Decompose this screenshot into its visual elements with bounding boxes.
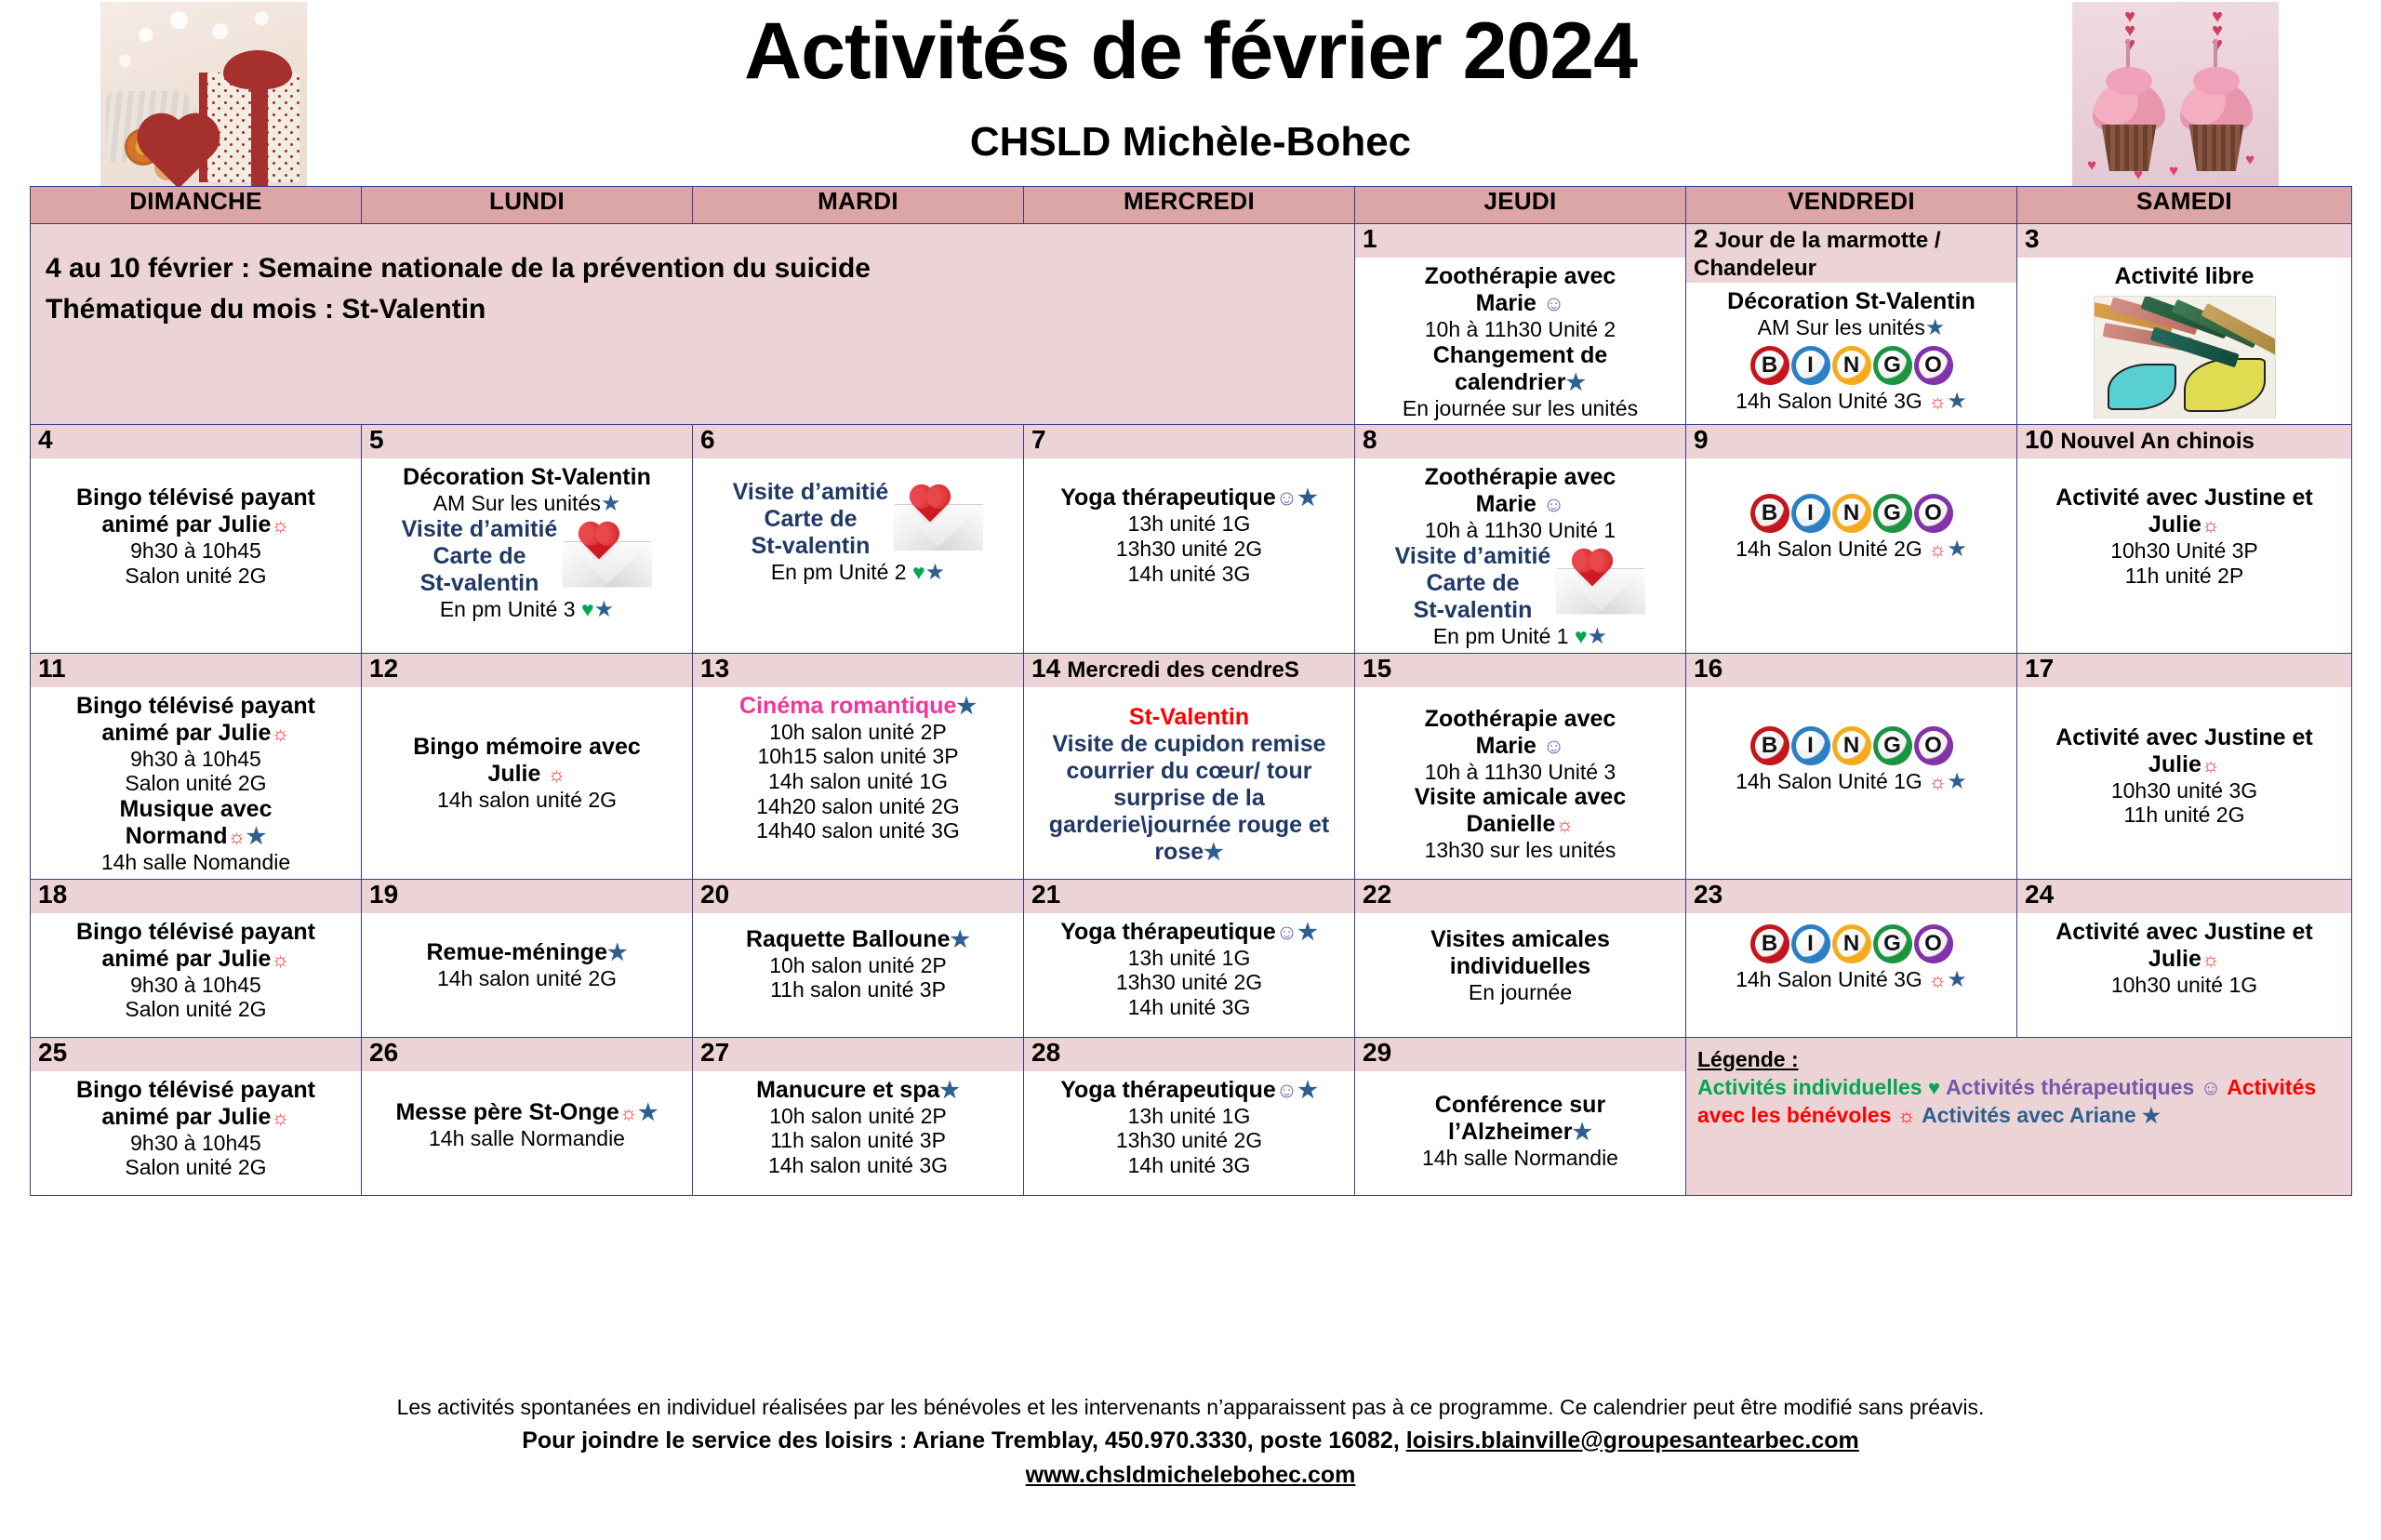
bingo-logo: B I N G O: [1694, 726, 2009, 765]
day-events-8: Zoothérapie avec Marie ☺ 10h à 11h30 Uni…: [1355, 458, 1685, 652]
day-number-9: 9: [1686, 425, 2016, 458]
monthly-calendar: DIMANCHE LUNDI MARDI MERCREDI JEUDI VEND…: [30, 186, 2352, 1196]
day-cell-17[interactable]: 17 Activité avec Justine et Julie☼ 10h30…: [2017, 653, 2352, 879]
day-number-22: 22: [1355, 880, 1685, 913]
weekday-header-monday: LUNDI: [362, 187, 693, 224]
legend-items: Activités individuelles ♥ Activités thér…: [1697, 1074, 2340, 1130]
bingo-ball-o: O: [1914, 726, 1953, 765]
sun-icon: ☼: [271, 948, 289, 971]
weekday-header-tuesday: MARDI: [693, 187, 1024, 224]
day-cell-25[interactable]: 25 Bingo télévisé payant animé par Julie…: [31, 1037, 362, 1195]
weekday-header-wednesday: MERCREDI: [1024, 187, 1355, 224]
smiley-icon: ☺: [1543, 734, 1564, 758]
footer-note: Les activités spontanées en individuel r…: [0, 1391, 2381, 1424]
heart-icon: ♥: [912, 560, 925, 584]
day-events-29: Conférence sur l’Alzheimer★ 14h salle No…: [1355, 1071, 1685, 1175]
day-events-11: Bingo télévisé payant animé par Julie☼ 9…: [31, 687, 361, 879]
day-cell-15[interactable]: 15 Zoothérapie avec Marie ☺ 10h à 11h30 …: [1355, 653, 1686, 879]
smiley-icon: ☺: [2201, 1076, 2228, 1099]
day-events-21: Yoga thérapeutique☺★ 13h unité 1G 13h30 …: [1024, 913, 1354, 1024]
weekday-header-friday: VENDREDI: [1686, 187, 2017, 224]
day-number-17: 17: [2017, 654, 2351, 687]
day-number-25: 25: [31, 1038, 361, 1071]
heart-icon: ♥: [1575, 624, 1588, 648]
calendar-week-1: 4 au 10 février : Semaine nationale de l…: [31, 224, 2352, 425]
bingo-ball-g: G: [1873, 726, 1912, 765]
day-cell-3[interactable]: 3 Activité libre: [2017, 224, 2352, 425]
sun-icon: ☼: [1928, 390, 1947, 413]
legend: Légende : Activités individuelles ♥ Acti…: [1686, 1037, 2352, 1195]
heart-icon: ♥: [581, 597, 594, 621]
calendar-week-5: 25 Bingo télévisé payant animé par Julie…: [31, 1037, 2352, 1195]
sun-icon: ☼: [271, 513, 289, 537]
love-letter-icon: [563, 526, 652, 588]
day-number-27: 27: [693, 1038, 1023, 1071]
heart-icon: ♥: [1928, 1076, 1946, 1099]
day-events-28: Yoga thérapeutique☺★ 13h unité 1G 13h30 …: [1024, 1071, 1354, 1182]
day-events-4: Bingo télévisé payant animé par Julie☼ 9…: [31, 458, 361, 591]
bingo-ball-o: O: [1914, 924, 1953, 963]
footer-contact: Pour joindre le service des loisirs : Ar…: [0, 1424, 2381, 1459]
day-cell-8[interactable]: 8 Zoothérapie avec Marie ☺ 10h à 11h30 U…: [1355, 425, 1686, 653]
day-number-13: 13: [693, 654, 1023, 687]
bingo-ball-n: N: [1832, 924, 1871, 963]
star-icon: ★: [1947, 537, 1967, 562]
day-cell-18[interactable]: 18 Bingo télévisé payant animé par Julie…: [31, 879, 362, 1037]
day-events-19: Remue-méninge★ 14h salon unité 2G: [362, 913, 692, 995]
footer-website-link[interactable]: www.chsldmichelebohec.com: [0, 1458, 2381, 1494]
day-events-24: Activité avec Justine et Julie☼ 10h30 un…: [2017, 913, 2351, 1002]
bingo-ball-b: B: [1750, 494, 1789, 533]
day-number-21: 21: [1024, 880, 1354, 913]
day-cell-27[interactable]: 27 Manucure et spa★ 10h salon unité 2P 1…: [693, 1037, 1024, 1195]
day-number-10: 10 Nouvel An chinois: [2017, 425, 2351, 458]
day-number-8: 8: [1355, 425, 1685, 458]
sun-icon: ☼: [1555, 813, 1574, 836]
day-number-26: 26: [362, 1038, 692, 1071]
day-number-16: 16: [1686, 654, 2016, 687]
day-number-20: 20: [693, 880, 1023, 913]
day-cell-19[interactable]: 19 Remue-méninge★ 14h salon unité 2G: [362, 879, 693, 1037]
day-number-18: 18: [31, 880, 361, 913]
bingo-logo: B I N G O: [1694, 494, 2009, 533]
sun-icon: ☼: [1928, 770, 1947, 793]
bingo-logo: B I N G O: [1694, 346, 2009, 385]
day-events-13: Cinéma romantique★ 10h salon unité 2P 10…: [693, 687, 1023, 847]
calendar-week-4: 18 Bingo télévisé payant animé par Julie…: [31, 879, 2352, 1037]
day-cell-29[interactable]: 29 Conférence sur l’Alzheimer★ 14h salle…: [1355, 1037, 1686, 1195]
star-icon: ★: [956, 694, 977, 719]
day-cell-16[interactable]: 16 B I N G O 14h Salon Unité 1G ☼★: [1686, 653, 2017, 879]
day-number-14: 14 Mercredi des cendreS: [1024, 654, 1354, 687]
day-events-1: Zoothérapie avec Marie ☺ 10h à 11h30 Uni…: [1355, 258, 1685, 424]
day-events-3: Activité libre: [2017, 258, 2351, 422]
bingo-ball-n: N: [1832, 726, 1871, 765]
day-events-22: Visites amicales individuelles En journé…: [1355, 913, 1685, 1009]
star-icon: ★: [1204, 840, 1224, 865]
day-cell-24[interactable]: 24 Activité avec Justine et Julie☼ 10h30…: [2017, 879, 2352, 1037]
day-cell-20[interactable]: 20 Raquette Balloune★ 10h salon unité 2P…: [693, 879, 1024, 1037]
bingo-ball-g: G: [1873, 346, 1912, 385]
smiley-icon: ☺: [1543, 291, 1564, 315]
sun-icon: ☼: [1897, 1104, 1922, 1127]
footer-email-link[interactable]: loisirs.blainville@groupesantearbec.com: [1406, 1427, 1859, 1454]
day-cell-14[interactable]: 14 Mercredi des cendreS St-Valentin Visi…: [1024, 653, 1355, 879]
day-events-27: Manucure et spa★ 10h salon unité 2P 11h …: [693, 1071, 1023, 1182]
smiley-icon: ☺: [1276, 1078, 1297, 1102]
day-cell-13[interactable]: 13 Cinéma romantique★ 10h salon unité 2P…: [693, 653, 1024, 879]
day-events-23: B I N G O 14h Salon Unité 3G ☼★: [1686, 913, 2016, 996]
star-icon: ★: [1297, 485, 1318, 511]
star-icon: ★: [2142, 1104, 2161, 1127]
star-icon: ★: [1925, 315, 1946, 340]
month-banner: 4 au 10 février : Semaine nationale de l…: [31, 224, 1355, 425]
day-number-15: 15: [1355, 654, 1685, 687]
bingo-logo: B I N G O: [1694, 924, 2009, 963]
day-cell-7[interactable]: 7 Yoga thérapeutique☺★ 13h unité 1G 13h3…: [1024, 425, 1355, 653]
day-cell-21[interactable]: 21 Yoga thérapeutique☺★ 13h unité 1G 13h…: [1024, 879, 1355, 1037]
day-number-6: 6: [693, 425, 1023, 458]
star-icon: ★: [607, 940, 628, 965]
star-icon: ★: [925, 560, 946, 585]
bingo-ball-g: G: [1873, 924, 1912, 963]
love-letter-icon: [894, 489, 983, 551]
sun-icon: ☼: [271, 1106, 289, 1129]
calendar-week-2: 4 Bingo télévisé payant animé par Julie☼…: [31, 425, 2352, 653]
day-number-28: 28: [1024, 1038, 1354, 1071]
day-events-12: Bingo mémoire avec Julie ☼ 14h salon uni…: [362, 687, 692, 816]
valentine-cupcakes-photo: ♥♥♥ ♥♥♥ ♥ ♥ ♥ ♥: [2072, 2, 2279, 186]
sun-icon: ☼: [547, 763, 565, 786]
bingo-ball-b: B: [1750, 726, 1789, 765]
day-cell-9[interactable]: 9 B I N G O 14h Salon Unité 2G ☼★: [1686, 425, 2017, 653]
weekday-header-row: DIMANCHE LUNDI MARDI MERCREDI JEUDI VEND…: [31, 187, 2352, 224]
star-icon: ★: [1572, 1120, 1592, 1145]
day-cell-26[interactable]: 26 Messe père St-Onge☼★ 14h salle Norman…: [362, 1037, 693, 1195]
day-events-16: B I N G O 14h Salon Unité 1G ☼★: [1686, 687, 2016, 798]
day-number-1: 1: [1355, 224, 1685, 258]
bingo-ball-g: G: [1873, 494, 1912, 533]
bingo-ball-b: B: [1750, 346, 1789, 385]
day-cell-11[interactable]: 11 Bingo télévisé payant animé par Julie…: [31, 653, 362, 879]
day-events-26: Messe père St-Onge☼★ 14h salle Normandie: [362, 1071, 692, 1155]
sun-icon: ☼: [1928, 538, 1947, 561]
legend-item-therapeutic: Activités thérapeutiques: [1946, 1075, 2194, 1099]
star-icon: ★: [246, 824, 267, 849]
day-events-9: B I N G O 14h Salon Unité 2G ☼★: [1686, 458, 2016, 565]
star-icon: ★: [1297, 1078, 1318, 1103]
day-number-5: 5: [362, 425, 692, 458]
smiley-icon: ☺: [1543, 492, 1564, 516]
day-number-29: 29: [1355, 1038, 1685, 1071]
bingo-ball-n: N: [1832, 346, 1871, 385]
day-cell-22[interactable]: 22 Visites amicales individuelles En jou…: [1355, 879, 1686, 1037]
smiley-icon: ☺: [1276, 920, 1297, 944]
page-subtitle: CHSLD Michèle-Bohec: [0, 119, 2381, 166]
legend-title: Légende :: [1697, 1047, 2340, 1072]
day-number-23: 23: [1686, 880, 2016, 913]
legend-item-ariane: Activités avec Ariane: [1922, 1103, 2136, 1127]
bingo-ball-i: I: [1791, 924, 1830, 963]
day-cell-28[interactable]: 28 Yoga thérapeutique☺★ 13h unité 1G 13h…: [1024, 1037, 1355, 1195]
day-number-2: 2 Jour de la marmotte / Chandeleur: [1686, 224, 2016, 283]
day-number-19: 19: [362, 880, 692, 913]
day-number-3: 3: [2017, 224, 2351, 258]
star-icon: ★: [1947, 769, 1967, 794]
bingo-ball-i: I: [1791, 494, 1830, 533]
bingo-ball-o: O: [1914, 346, 1953, 385]
star-icon: ★: [1947, 389, 1967, 414]
day-cell-12[interactable]: 12 Bingo mémoire avec Julie ☼ 14h salon …: [362, 653, 693, 879]
day-number-12: 12: [362, 654, 692, 687]
weekday-header-saturday: SAMEDI: [2017, 187, 2352, 224]
day-events-5: Décoration St-Valentin AM Sur les unités…: [362, 458, 692, 625]
day-cell-5[interactable]: 5 Décoration St-Valentin AM Sur les unit…: [362, 425, 693, 653]
love-letter-icon: [1556, 553, 1645, 615]
bingo-ball-o: O: [1914, 494, 1953, 533]
weekday-header-thursday: JEUDI: [1355, 187, 1686, 224]
bingo-ball-n: N: [1832, 494, 1871, 533]
banner-line-2: Thématique du mois : St-Valentin: [46, 289, 1339, 330]
day-events-7: Yoga thérapeutique☺★ 13h unité 1G 13h30 …: [1024, 458, 1354, 590]
day-events-15: Zoothérapie avec Marie ☺ 10h à 11h30 Uni…: [1355, 687, 1685, 867]
sun-icon: ☼: [2201, 753, 2220, 777]
legend-item-individual: Activités individuelles: [1697, 1075, 1922, 1099]
day-number-4: 4: [31, 425, 361, 458]
star-icon: ★: [950, 927, 970, 952]
sun-icon: ☼: [619, 1101, 638, 1124]
day-number-11: 11: [31, 654, 361, 687]
day-events-18: Bingo télévisé payant animé par Julie☼ 9…: [31, 913, 361, 1026]
star-icon: ★: [1297, 920, 1318, 945]
footer-contact-text: Pour joindre le service des loisirs : Ar…: [522, 1427, 1406, 1454]
sun-icon: ☼: [1928, 968, 1947, 991]
weekday-header-sunday: DIMANCHE: [31, 187, 362, 224]
sun-icon: ☼: [2201, 948, 2220, 971]
day-cell-1[interactable]: 1 Zoothérapie avec Marie ☺ 10h à 11h30 U…: [1355, 224, 1686, 425]
sun-icon: ☼: [271, 722, 289, 745]
star-icon: ★: [638, 1100, 658, 1125]
calendar-week-3: 11 Bingo télévisé payant animé par Julie…: [31, 653, 2352, 879]
sun-icon: ☼: [228, 825, 246, 848]
day-events-6: Visite d’amitié Carte de St-valentin En …: [693, 458, 1023, 589]
day-number-7: 7: [1024, 425, 1354, 458]
star-icon: ★: [601, 491, 621, 516]
star-icon: ★: [1588, 624, 1608, 649]
star-icon: ★: [1566, 370, 1587, 395]
bingo-ball-b: B: [1750, 924, 1789, 963]
day-cell-2[interactable]: 2 Jour de la marmotte / Chandeleur Décor…: [1686, 224, 2017, 425]
sun-icon: ☼: [2201, 513, 2220, 537]
day-events-17: Activité avec Justine et Julie☼ 10h30 un…: [2017, 687, 2351, 831]
banner-line-1: 4 au 10 février : Semaine nationale de l…: [46, 248, 1339, 289]
bingo-ball-i: I: [1791, 346, 1830, 385]
star-icon: ★: [594, 597, 615, 622]
day-events-20: Raquette Balloune★ 10h salon unité 2P 11…: [693, 913, 1023, 1006]
star-icon: ★: [939, 1078, 960, 1103]
day-cell-10[interactable]: 10 Nouvel An chinois Activité avec Justi…: [2017, 425, 2352, 653]
day-cell-4[interactable]: 4 Bingo télévisé payant animé par Julie☼…: [31, 425, 362, 653]
day-events-10: Activité avec Justine et Julie☼ 10h30 Un…: [2017, 458, 2351, 591]
day-cell-6[interactable]: 6 Visite d’amitié Carte de St-valentin: [693, 425, 1024, 653]
smiley-icon: ☺: [1276, 485, 1297, 510]
page-footer: Les activités spontanées en individuel r…: [0, 1391, 2381, 1494]
day-events-25: Bingo télévisé payant animé par Julie☼ 9…: [31, 1071, 361, 1184]
day-cell-23[interactable]: 23 B I N G O 14h Salon Unité 3G ☼★: [1686, 879, 2017, 1037]
star-icon: ★: [1947, 967, 1967, 992]
bingo-ball-i: I: [1791, 726, 1830, 765]
page-header: Activités de février 2024 CHSLD Michèle-…: [0, 0, 2381, 186]
day-events-14: St-Valentin Visite de cupidon remise cou…: [1024, 687, 1354, 870]
coloring-pencils-photo: [2094, 296, 2276, 418]
page-title: Activités de février 2024: [0, 6, 2381, 98]
day-events-2: Décoration St-Valentin AM Sur les unités…: [1686, 283, 2016, 417]
day-number-24: 24: [2017, 880, 2351, 913]
